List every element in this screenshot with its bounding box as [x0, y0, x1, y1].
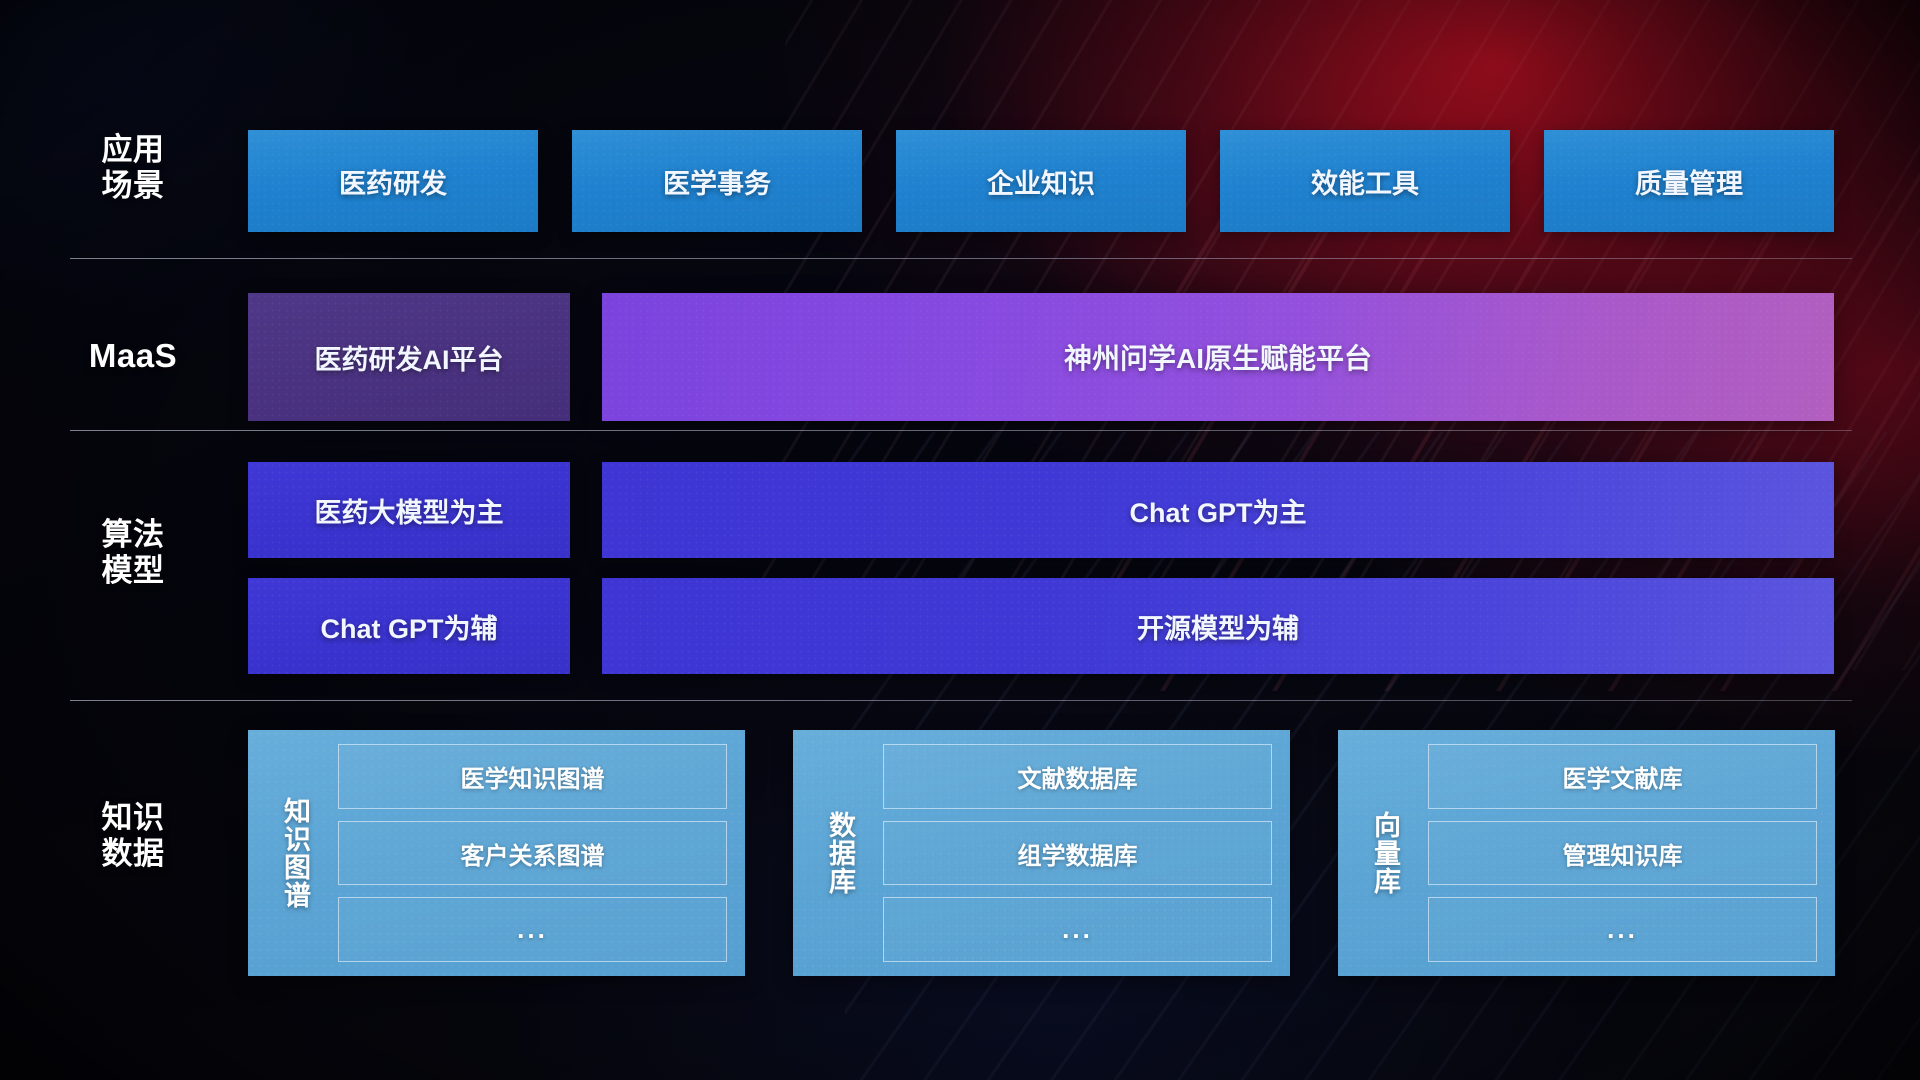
layer-label-knowledge-data: 知识 数据 — [70, 800, 196, 872]
knowledge-panel-label-knowledge-graph: 知识图谱 — [262, 744, 326, 962]
app-card-enterprise-knowledge[interactable]: 企业知识 — [896, 130, 1186, 232]
algorithm-card-opensource-model-secondary[interactable]: 开源模型为辅 — [602, 578, 1834, 674]
app-card-medical-affairs[interactable]: 医学事务 — [572, 130, 862, 232]
knowledge-panel-items-database: 文献数据库 组学数据库 ... — [871, 744, 1272, 962]
algorithm-card-chatgpt-secondary[interactable]: Chat GPT为辅 — [248, 578, 570, 674]
knowledge-panel-database[interactable]: 数据库 文献数据库 组学数据库 ... — [793, 730, 1290, 976]
app-card-quality-management[interactable]: 质量管理 — [1544, 130, 1834, 232]
knowledge-panel-label-database: 数据库 — [807, 744, 871, 962]
knowledge-item-omics-database[interactable]: 组学数据库 — [883, 821, 1272, 886]
algorithm-card-chatgpt-primary[interactable]: Chat GPT为主 — [602, 462, 1834, 558]
knowledge-item-management-knowledge-store[interactable]: 管理知识库 — [1428, 821, 1817, 886]
layer-label-maas: MaaS — [70, 337, 196, 375]
app-card-medicine-rd[interactable]: 医药研发 — [248, 130, 538, 232]
knowledge-item-literature-database[interactable]: 文献数据库 — [883, 744, 1272, 809]
divider-algorithm-knowledge — [70, 700, 1852, 701]
algorithm-card-medicine-large-model-primary[interactable]: 医药大模型为主 — [248, 462, 570, 558]
architecture-diagram: 应用 场景 医药研发 医学事务 企业知识 效能工具 质量管理 MaaS 医药研发… — [0, 0, 1920, 1080]
knowledge-panel-label-vector-store: 向量库 — [1352, 744, 1416, 962]
app-card-efficiency-tools[interactable]: 效能工具 — [1220, 130, 1510, 232]
knowledge-item-more-database[interactable]: ... — [883, 897, 1272, 962]
knowledge-panel-items-vector-store: 医学文献库 管理知识库 ... — [1416, 744, 1817, 962]
knowledge-panel-knowledge-graph[interactable]: 知识图谱 医学知识图谱 客户关系图谱 ... — [248, 730, 745, 976]
divider-application-maas — [70, 258, 1852, 259]
knowledge-item-more-vector-store[interactable]: ... — [1428, 897, 1817, 962]
knowledge-item-more-knowledge-graph[interactable]: ... — [338, 897, 727, 962]
maas-card-medicine-rd-ai-platform[interactable]: 医药研发AI平台 — [248, 293, 570, 421]
divider-maas-algorithm — [70, 430, 1852, 431]
layer-label-algorithm-model: 算法 模型 — [70, 517, 196, 589]
maas-card-shenzhou-wenxue-platform[interactable]: 神州问学AI原生赋能平台 — [602, 293, 1834, 421]
knowledge-panel-items-knowledge-graph: 医学知识图谱 客户关系图谱 ... — [326, 744, 727, 962]
layer-label-application-scenarios: 应用 场景 — [70, 132, 196, 204]
knowledge-item-customer-relation-graph[interactable]: 客户关系图谱 — [338, 821, 727, 886]
knowledge-item-medical-literature-store[interactable]: 医学文献库 — [1428, 744, 1817, 809]
knowledge-item-medical-knowledge-graph[interactable]: 医学知识图谱 — [338, 744, 727, 809]
knowledge-panel-vector-store[interactable]: 向量库 医学文献库 管理知识库 ... — [1338, 730, 1835, 976]
